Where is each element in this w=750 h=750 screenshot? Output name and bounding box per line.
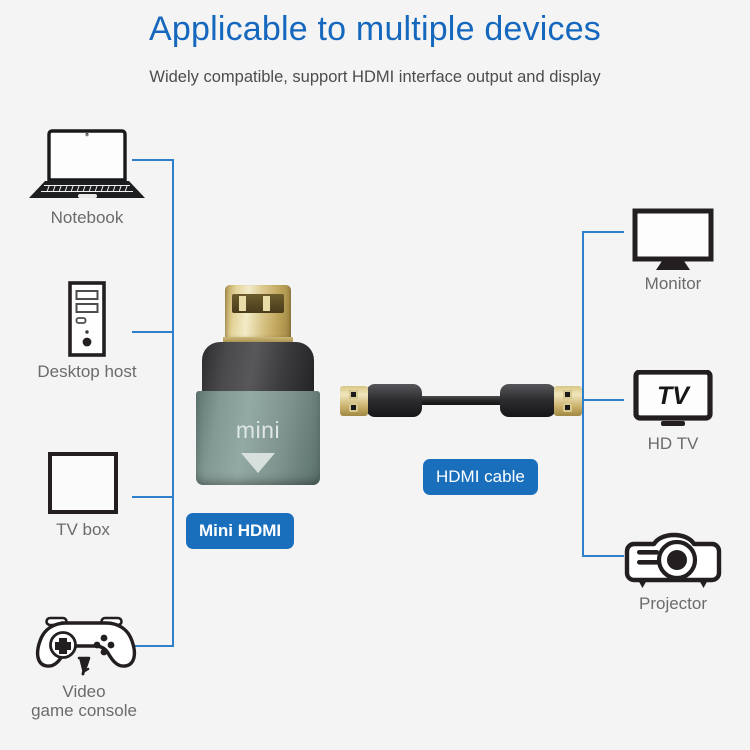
device-label-projector: Projector <box>600 594 746 613</box>
device-label-monitor: Monitor <box>608 274 738 293</box>
badge-hdmi-cable[interactable]: HDMI cable <box>423 459 538 495</box>
device-hd-tv[interactable]: TV HD TV <box>608 370 738 453</box>
adapter-black-housing <box>202 342 314 395</box>
device-tv-box[interactable]: TV box <box>22 450 144 539</box>
device-game-console[interactable]: Video game console <box>8 608 160 720</box>
page-subtitle: Widely compatible, support HDMI interfac… <box>0 68 750 87</box>
laptop-icon <box>28 126 146 204</box>
device-notebook[interactable]: Notebook <box>22 126 152 227</box>
adapter-body-text: mini <box>196 417 320 444</box>
device-label-game-console: Video game console <box>8 682 160 720</box>
cable-gold-connector-left <box>340 386 368 416</box>
adapter-gold-plug <box>225 285 291 342</box>
device-label-tv-box: TV box <box>22 520 144 539</box>
source-bracket-spine <box>172 159 174 647</box>
tv-box-icon <box>46 450 120 516</box>
page-title: Applicable to multiple devices <box>0 10 750 49</box>
device-monitor[interactable]: Monitor <box>608 208 738 293</box>
down-triangle-icon <box>241 453 275 473</box>
cable-connector-shell-left <box>366 384 422 417</box>
device-projector[interactable]: Projector <box>600 528 746 613</box>
adapter-green-body: mini <box>196 391 320 485</box>
television-icon: TV <box>631 370 715 430</box>
cable-wire <box>412 396 514 405</box>
desktop-tower-icon <box>57 280 117 358</box>
device-label-hd-tv: HD TV <box>608 434 738 453</box>
tv-screen-text: TV <box>657 382 691 410</box>
mini-hdmi-adapter[interactable]: mini <box>196 285 320 485</box>
cable-connector-shell-right <box>500 384 556 417</box>
gamepad-icon <box>29 608 139 678</box>
hdmi-cable[interactable] <box>340 380 582 422</box>
projector-icon <box>620 528 726 590</box>
monitor-icon <box>631 208 715 270</box>
infographic-canvas: Applicable to multiple devices Widely co… <box>0 0 750 750</box>
cable-gold-connector-right <box>554 386 582 416</box>
output-bracket-spine <box>582 231 584 557</box>
device-desktop-host[interactable]: Desktop host <box>20 280 154 381</box>
device-label-notebook: Notebook <box>22 208 152 227</box>
device-label-desktop-host: Desktop host <box>20 362 154 381</box>
badge-mini-hdmi[interactable]: Mini HDMI <box>186 513 294 549</box>
